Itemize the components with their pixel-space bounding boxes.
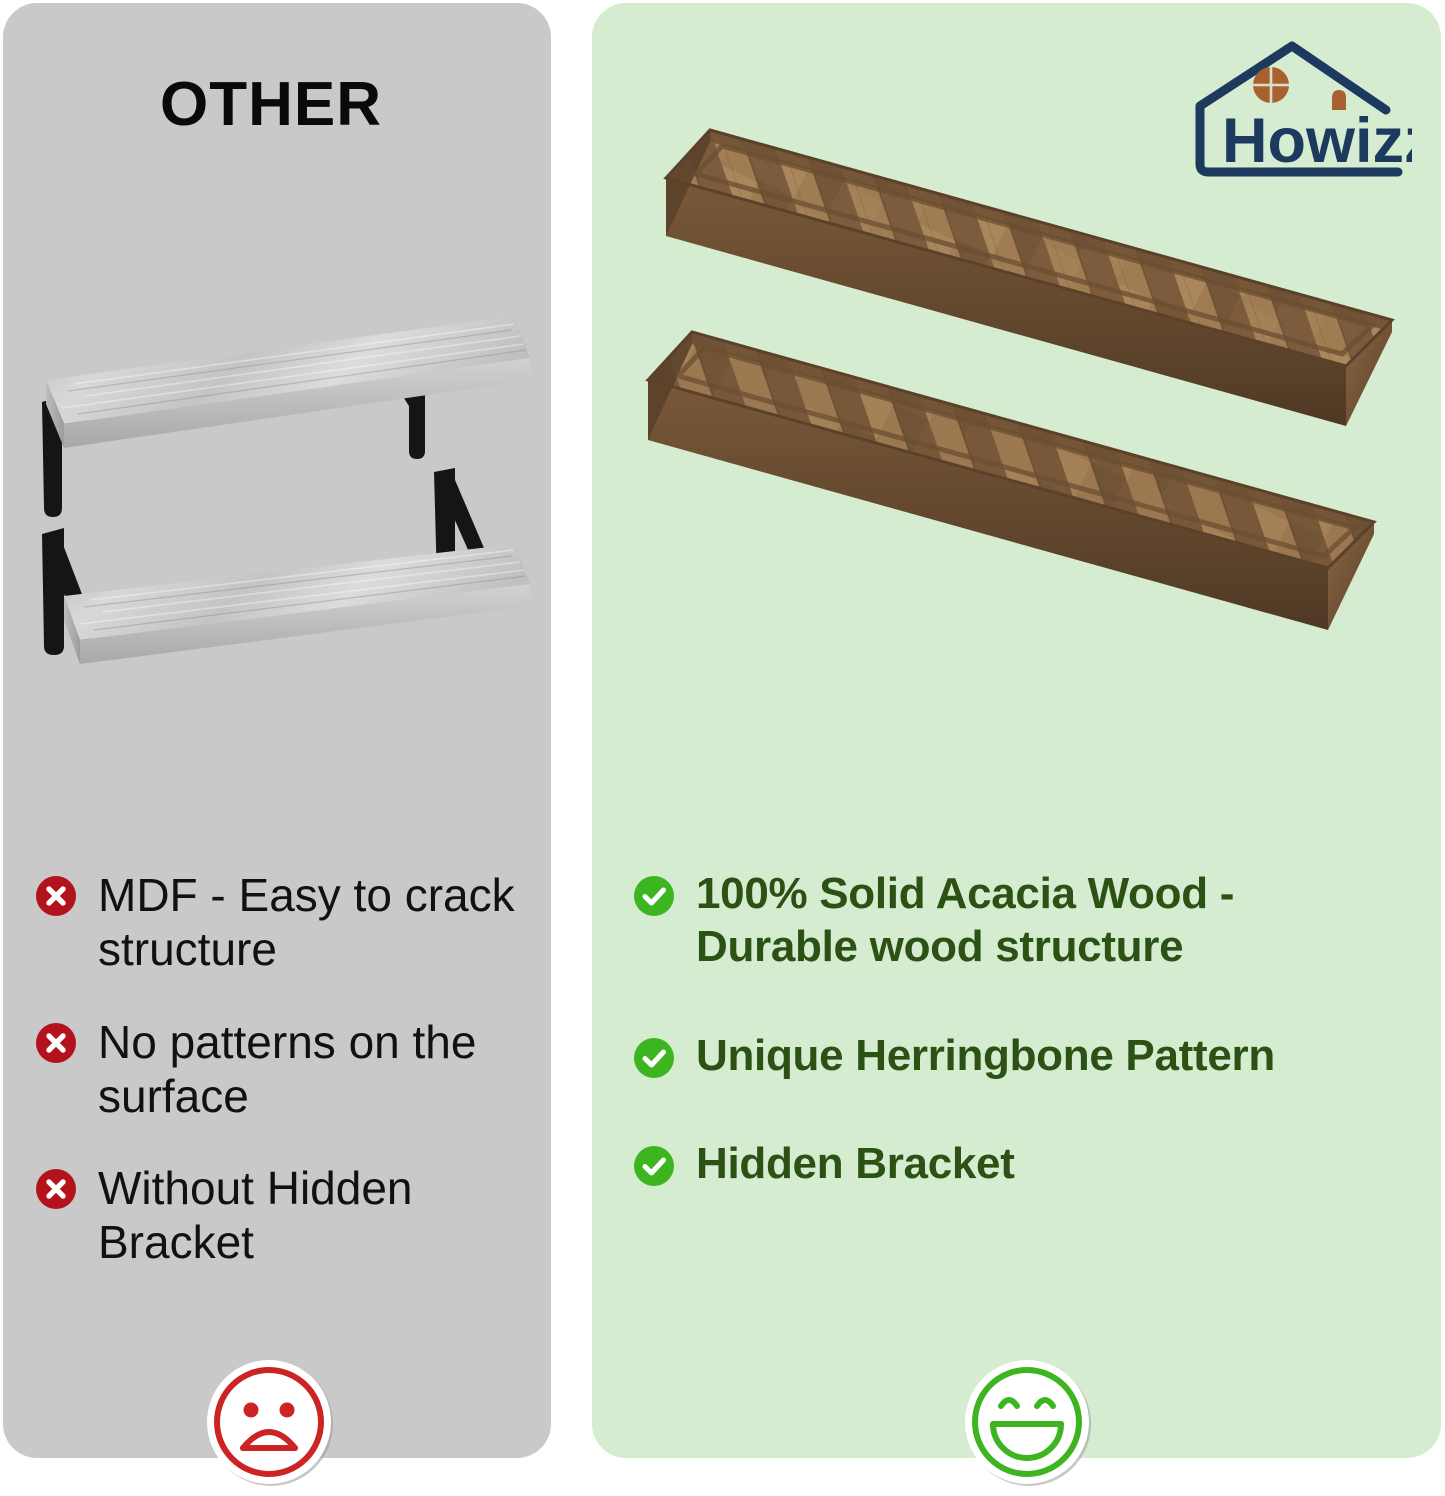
list-item-label: Unique Herringbone Pattern bbox=[696, 1030, 1275, 1083]
list-item-label: Without Hidden Bracket bbox=[98, 1161, 526, 1270]
check-circle-icon bbox=[634, 1146, 674, 1186]
list-item: MDF - Easy to crack structure bbox=[36, 868, 526, 977]
acacia-herringbone-shelves-image bbox=[630, 70, 1420, 770]
sad-face-icon bbox=[201, 1354, 337, 1490]
list-item-label: Hidden Bracket bbox=[696, 1138, 1015, 1191]
upper-shelf-board bbox=[46, 316, 530, 448]
list-item: Unique Herringbone Pattern bbox=[634, 1030, 1394, 1083]
list-item-label: No patterns on the surface bbox=[98, 1015, 526, 1124]
other-panel-title: OTHER bbox=[160, 74, 382, 136]
x-circle-icon bbox=[36, 876, 76, 916]
lower-shelf-board bbox=[64, 544, 530, 664]
list-item: Hidden Bracket bbox=[634, 1138, 1394, 1191]
check-circle-icon bbox=[634, 1038, 674, 1078]
howizz-feature-list: 100% Solid Acacia Wood - Durable wood st… bbox=[634, 868, 1394, 1247]
gray-mdf-shelves-image bbox=[28, 296, 538, 706]
list-item-label: 100% Solid Acacia Wood - Durable wood st… bbox=[696, 868, 1394, 974]
check-circle-icon bbox=[634, 876, 674, 916]
list-item-label: MDF - Easy to crack structure bbox=[98, 868, 526, 977]
list-item: 100% Solid Acacia Wood - Durable wood st… bbox=[634, 868, 1394, 974]
list-item: Without Hidden Bracket bbox=[36, 1161, 526, 1270]
x-circle-icon bbox=[36, 1023, 76, 1063]
other-feature-list: MDF - Easy to crack structure No pattern… bbox=[36, 868, 526, 1308]
x-circle-icon bbox=[36, 1169, 76, 1209]
comparison-infographic: OTHER bbox=[0, 0, 1445, 1496]
happy-face-icon bbox=[959, 1354, 1095, 1490]
bracket-upper-right bbox=[400, 392, 425, 459]
list-item: No patterns on the surface bbox=[36, 1015, 526, 1124]
